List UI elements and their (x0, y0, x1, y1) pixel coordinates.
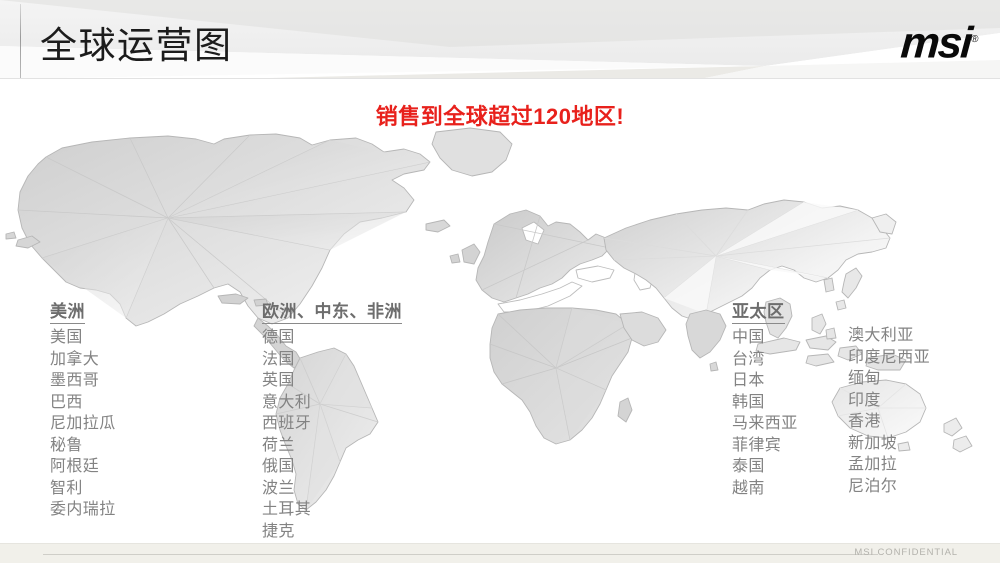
region-title-emea: 欧洲、中东、非洲 (262, 297, 402, 324)
region-block-apac: 亚太区 中国 台湾 日本 韩国 马来西亚 菲律宾 泰国 越南 (732, 297, 798, 499)
list-item: 印度 (848, 390, 930, 412)
header-divider (0, 78, 1000, 79)
list-item: 德国 (262, 327, 402, 349)
list-item: 尼加拉瓜 (50, 413, 116, 435)
region-block-americas: 美洲 美国 加拿大 墨西哥 巴西 尼加拉瓜 秘鲁 阿根廷 智利 委内瑞拉 (50, 297, 116, 521)
list-item: 孟加拉 (848, 454, 930, 476)
confidentiality-label: MSI CONFIDENTIAL (854, 547, 958, 558)
list-item: 智利 (50, 478, 116, 500)
list-item: 澳大利亚 (848, 325, 930, 347)
list-item: 韩国 (732, 392, 798, 414)
footer-rule (43, 554, 878, 555)
list-item: 泰国 (732, 456, 798, 478)
list-item: 土耳其 (262, 499, 402, 521)
list-item: 英国 (262, 370, 402, 392)
region-title-americas: 美洲 (50, 297, 85, 324)
slide-canvas: 全球运营图 msi® 销售到全球超过120地区! (0, 0, 1000, 563)
list-item: 墨西哥 (50, 370, 116, 392)
country-list-apac-secondary: 澳大利亚 印度尼西亚 缅甸 印度 香港 新加坡 孟加拉 尼泊尔 (848, 325, 930, 497)
country-list-emea: 德国 法国 英国 意大利 西班牙 荷兰 俄国 波兰 土耳其 捷克 (262, 327, 402, 542)
list-item: 秘鲁 (50, 435, 116, 457)
list-item: 印度尼西亚 (848, 347, 930, 369)
title-accent-rule (20, 4, 21, 78)
list-item: 荷兰 (262, 435, 402, 457)
list-item: 加拿大 (50, 349, 116, 371)
region-title-apac: 亚太区 (732, 297, 785, 324)
region-block-emea: 欧洲、中东、非洲 德国 法国 英国 意大利 西班牙 荷兰 俄国 波兰 土耳其 捷… (262, 297, 402, 542)
list-item: 日本 (732, 370, 798, 392)
list-item: 巴西 (50, 392, 116, 414)
list-item: 西班牙 (262, 413, 402, 435)
country-list-apac: 中国 台湾 日本 韩国 马来西亚 菲律宾 泰国 越南 (732, 327, 798, 499)
list-item: 越南 (732, 478, 798, 500)
list-item: 法国 (262, 349, 402, 371)
list-item: 香港 (848, 411, 930, 433)
list-item: 波兰 (262, 478, 402, 500)
list-item: 美国 (50, 327, 116, 349)
msi-logo: msi® (899, 18, 980, 66)
list-item: 台湾 (732, 349, 798, 371)
list-item: 委内瑞拉 (50, 499, 116, 521)
list-item: 新加坡 (848, 433, 930, 455)
list-item: 尼泊尔 (848, 476, 930, 498)
region-block-apac-secondary: 澳大利亚 印度尼西亚 缅甸 印度 香港 新加坡 孟加拉 尼泊尔 (848, 322, 930, 497)
list-item: 中国 (732, 327, 798, 349)
list-item: 马来西亚 (732, 413, 798, 435)
country-list-americas: 美国 加拿大 墨西哥 巴西 尼加拉瓜 秘鲁 阿根廷 智利 委内瑞拉 (50, 327, 116, 521)
page-title: 全球运营图 (40, 22, 233, 70)
list-item: 菲律宾 (732, 435, 798, 457)
list-item: 阿根廷 (50, 456, 116, 478)
list-item: 意大利 (262, 392, 402, 414)
slide-footer: MSI CONFIDENTIAL (0, 543, 1000, 563)
list-item: 捷克 (262, 521, 402, 543)
list-item: 俄国 (262, 456, 402, 478)
registered-trademark-icon: ® (970, 34, 978, 45)
msi-logo-wordmark: msi (899, 19, 972, 68)
list-item: 缅甸 (848, 368, 930, 390)
slide-header: 全球运营图 msi® (0, 0, 1000, 79)
